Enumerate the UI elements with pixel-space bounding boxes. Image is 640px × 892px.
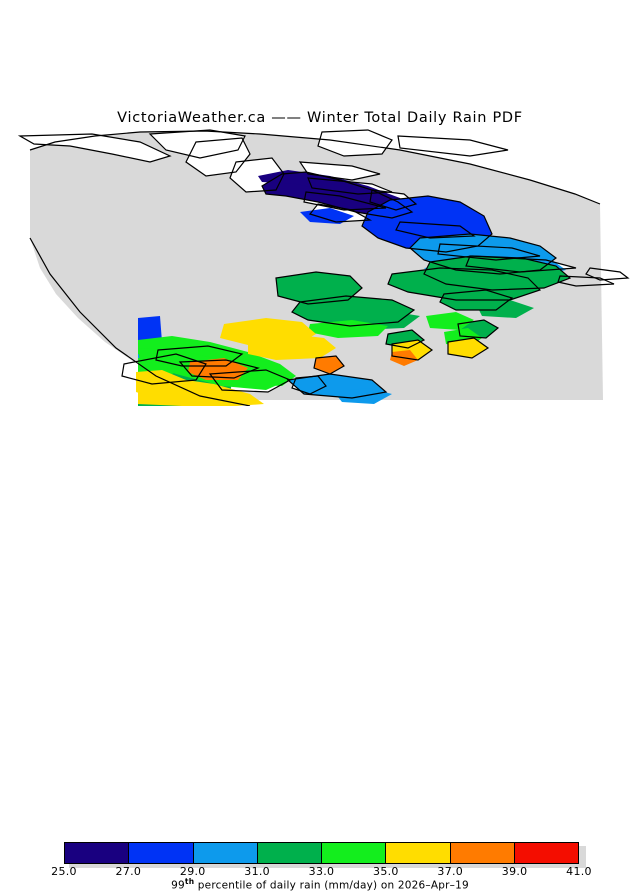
page-title: VictoriaWeather.ca —— Winter Total Daily…	[0, 107, 640, 126]
page-title-text: VictoriaWeather.ca —— Winter Total Daily…	[117, 110, 523, 126]
colorbar-block: 25.027.029.031.033.035.037.039.041.0 99t…	[0, 418, 640, 480]
caption-prefix: 99	[171, 880, 185, 892]
colorbar-segment-25.0-27.0[interactable]	[65, 843, 129, 863]
weather-map-page: VictoriaWeather.ca —— Winter Total Daily…	[0, 0, 640, 480]
colorbar[interactable]	[64, 842, 579, 864]
caption-suffix: percentile of daily rain (mm/day) on 202…	[194, 880, 469, 892]
colorbar-segment-35.0-37.0[interactable]	[386, 843, 450, 863]
colorbar-segment-37.0-39.0[interactable]	[451, 843, 515, 863]
map-canvas[interactable]	[0, 128, 640, 406]
contour-map-graphic	[0, 128, 640, 406]
colorbar-segment-27.0-29.0[interactable]	[129, 843, 193, 863]
caption-superscript: th	[185, 877, 194, 886]
colorbar-segment-31.0-33.0[interactable]	[258, 843, 322, 863]
colorbar-segment-29.0-31.0[interactable]	[194, 843, 258, 863]
colorbar-caption: 99th percentile of daily rain (mm/day) o…	[0, 877, 640, 892]
colorbar-segment-39.0-41.0[interactable]	[515, 843, 578, 863]
colorbar-segment-33.0-35.0[interactable]	[322, 843, 386, 863]
